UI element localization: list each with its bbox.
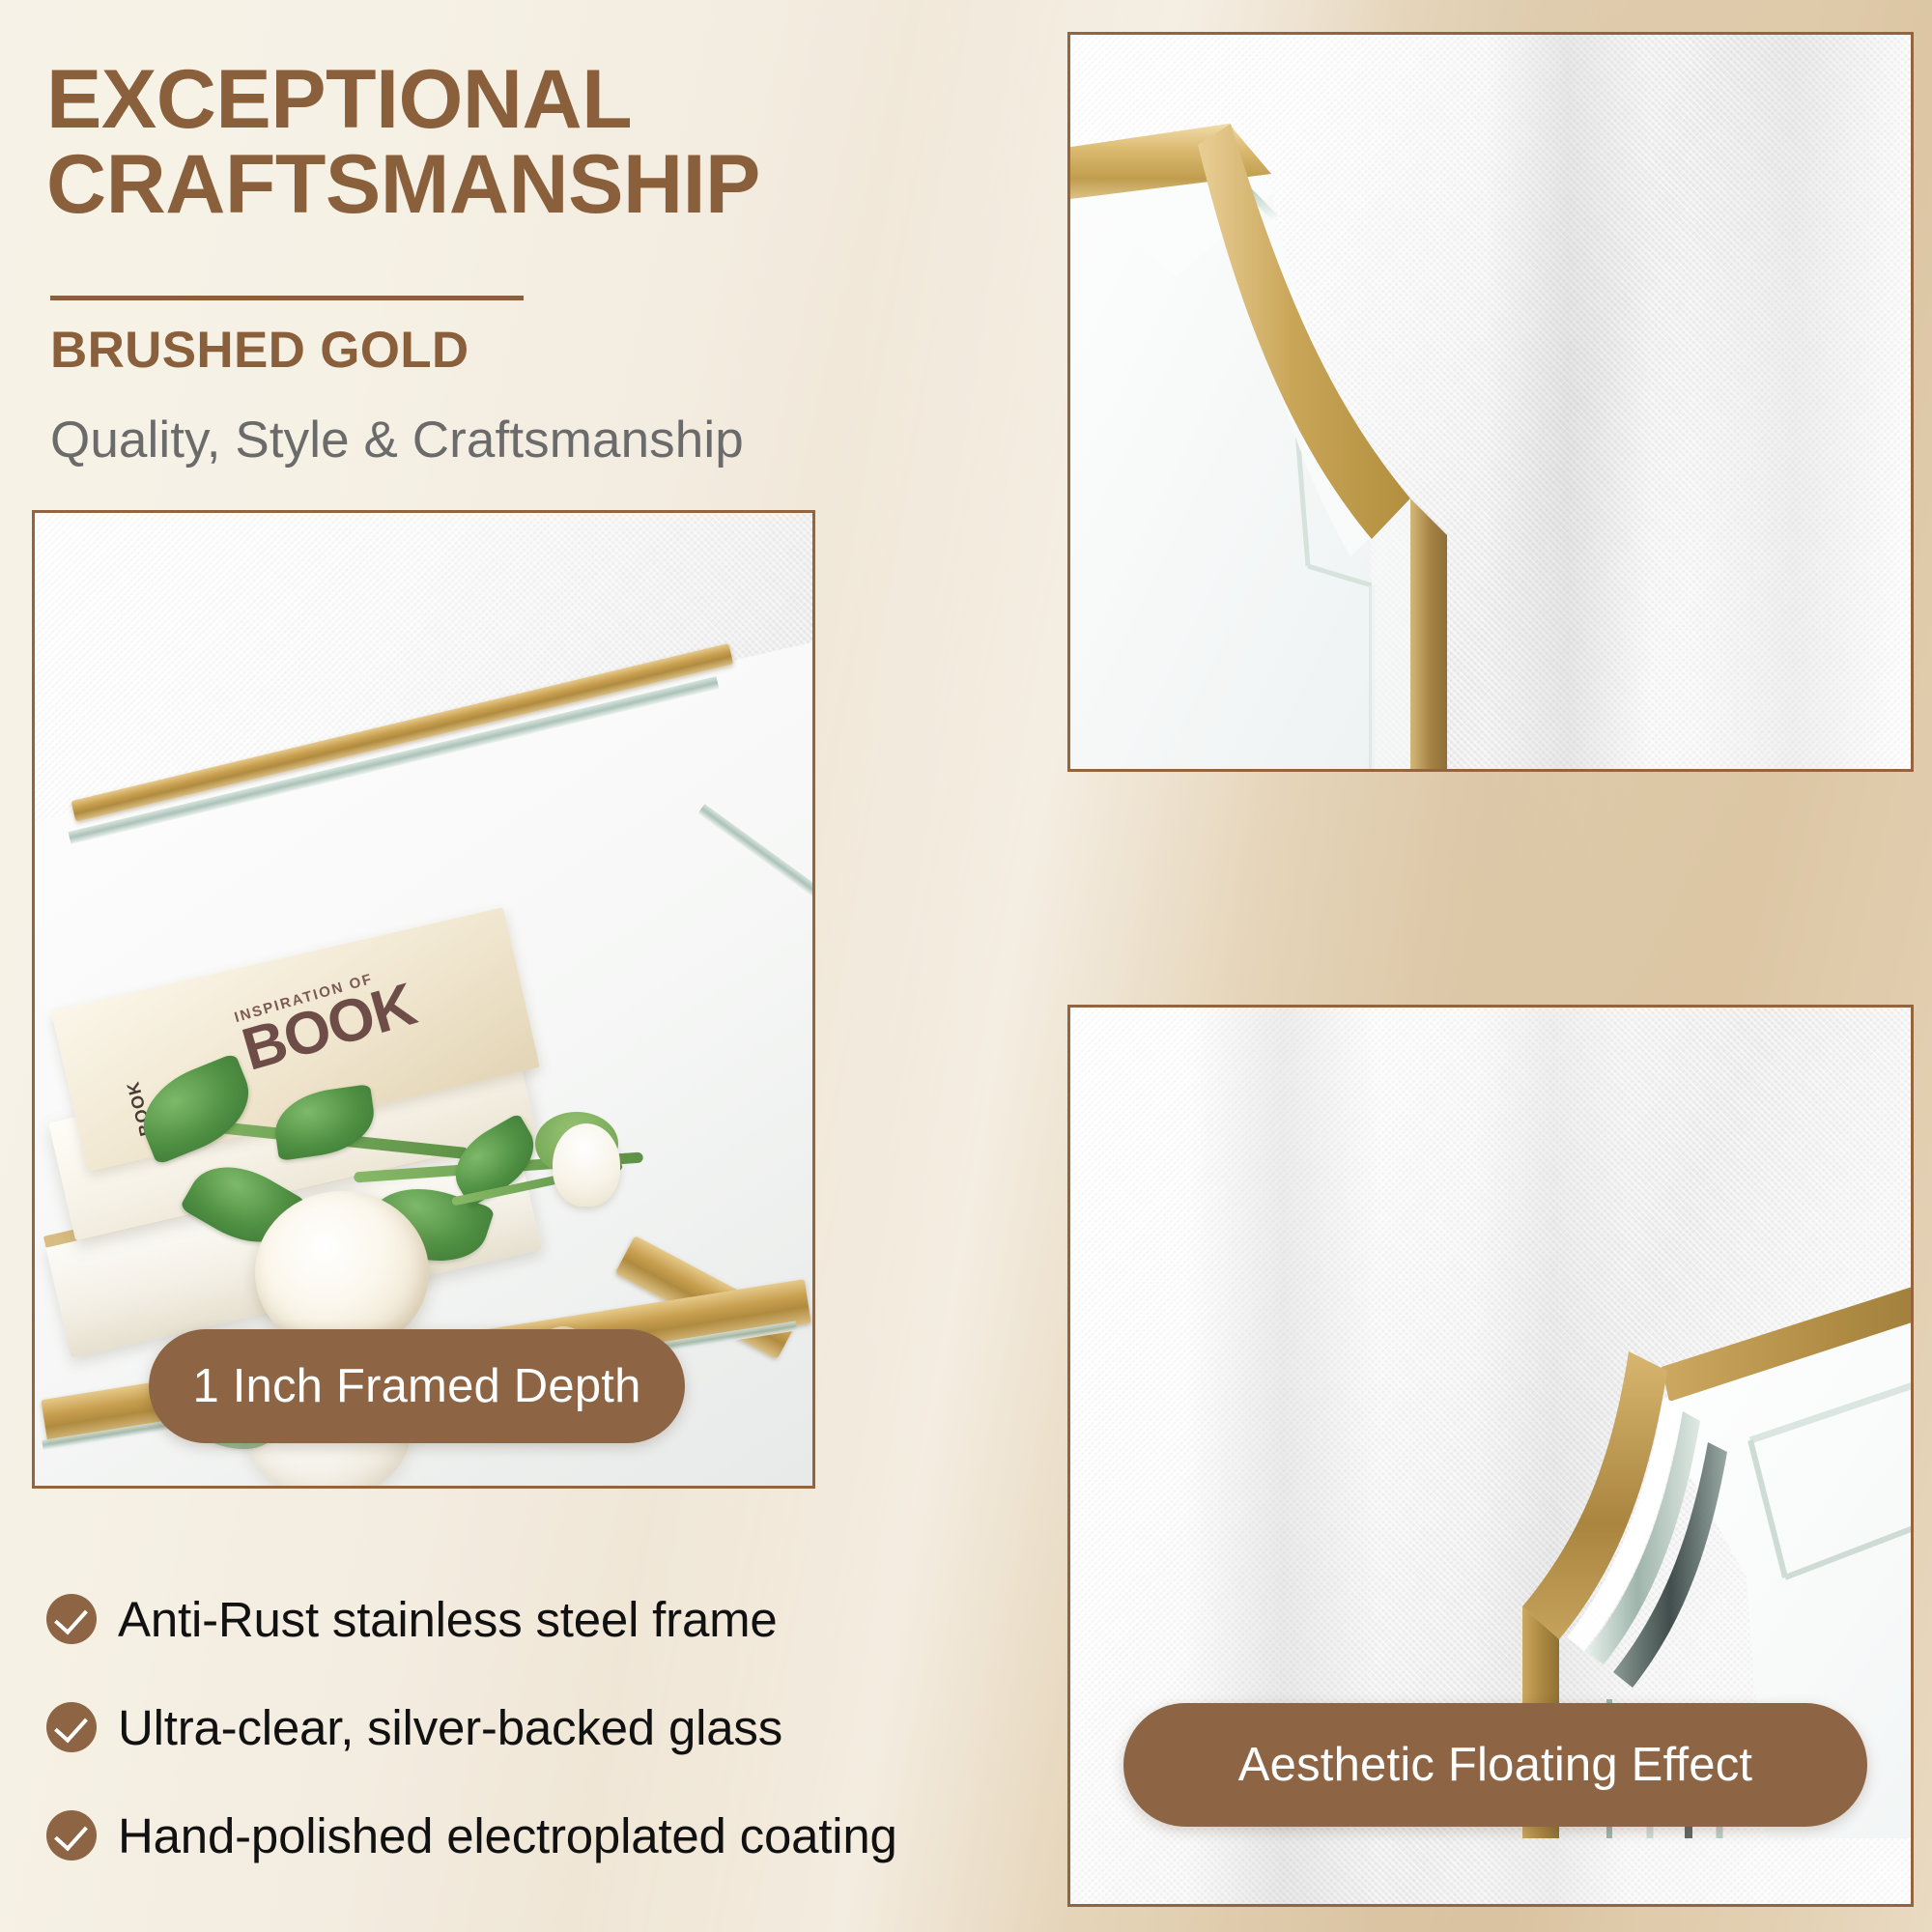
- main-product-photo: INSPIRATION OF BOOK BOOK 1 Inch Framed D…: [32, 510, 815, 1489]
- feature-text: Hand-polished electroplated coating: [118, 1807, 897, 1864]
- book-cover-title: INSPIRATION OF BOOK: [233, 962, 421, 1078]
- badge-framed-depth[interactable]: 1 Inch Framed Depth: [149, 1329, 685, 1443]
- page-tagline: Quality, Style & Craftsmanship: [50, 411, 744, 469]
- badge-floating-effect-label: Aesthetic Floating Effect: [1238, 1738, 1753, 1792]
- badge-floating-effect[interactable]: Aesthetic Floating Effect: [1123, 1703, 1867, 1827]
- badge-framed-depth-label: 1 Inch Framed Depth: [192, 1359, 640, 1413]
- headline-line-1: EXCEPTIONAL: [46, 53, 632, 146]
- floating-effect-photo: Aesthetic Floating Effect: [1067, 1005, 1914, 1907]
- page-headline: EXCEPTIONAL CRAFTSMANSHIP: [46, 58, 945, 227]
- finish-label: BRUSHED GOLD: [50, 321, 469, 380]
- feature-list: Anti-Rust stainless steel frame Ultra-cl…: [46, 1565, 1012, 1889]
- rose-bud: [553, 1123, 620, 1207]
- list-item: Hand-polished electroplated coating: [46, 1781, 1012, 1889]
- fabric-fold: [1689, 35, 1901, 769]
- check-circle-icon: [46, 1702, 97, 1752]
- check-circle-icon: [46, 1810, 97, 1861]
- mirror-corner-illustration: [1067, 102, 1650, 772]
- check-circle-icon: [46, 1594, 97, 1644]
- left-column: EXCEPTIONAL CRAFTSMANSHIP BRUSHED GOLD Q…: [0, 0, 1029, 1932]
- headline-divider: [50, 296, 524, 300]
- list-item: Ultra-clear, silver-backed glass: [46, 1673, 1012, 1781]
- book-title-text: BOOK: [237, 978, 420, 1078]
- feature-text: Anti-Rust stainless steel frame: [118, 1591, 778, 1648]
- headline-line-2: CRAFTSMANSHIP: [46, 143, 945, 228]
- list-item: Anti-Rust stainless steel frame: [46, 1565, 1012, 1673]
- feature-text: Ultra-clear, silver-backed glass: [118, 1699, 782, 1756]
- seamless-frame-photo: 100% Seamless Frame: [1067, 32, 1914, 772]
